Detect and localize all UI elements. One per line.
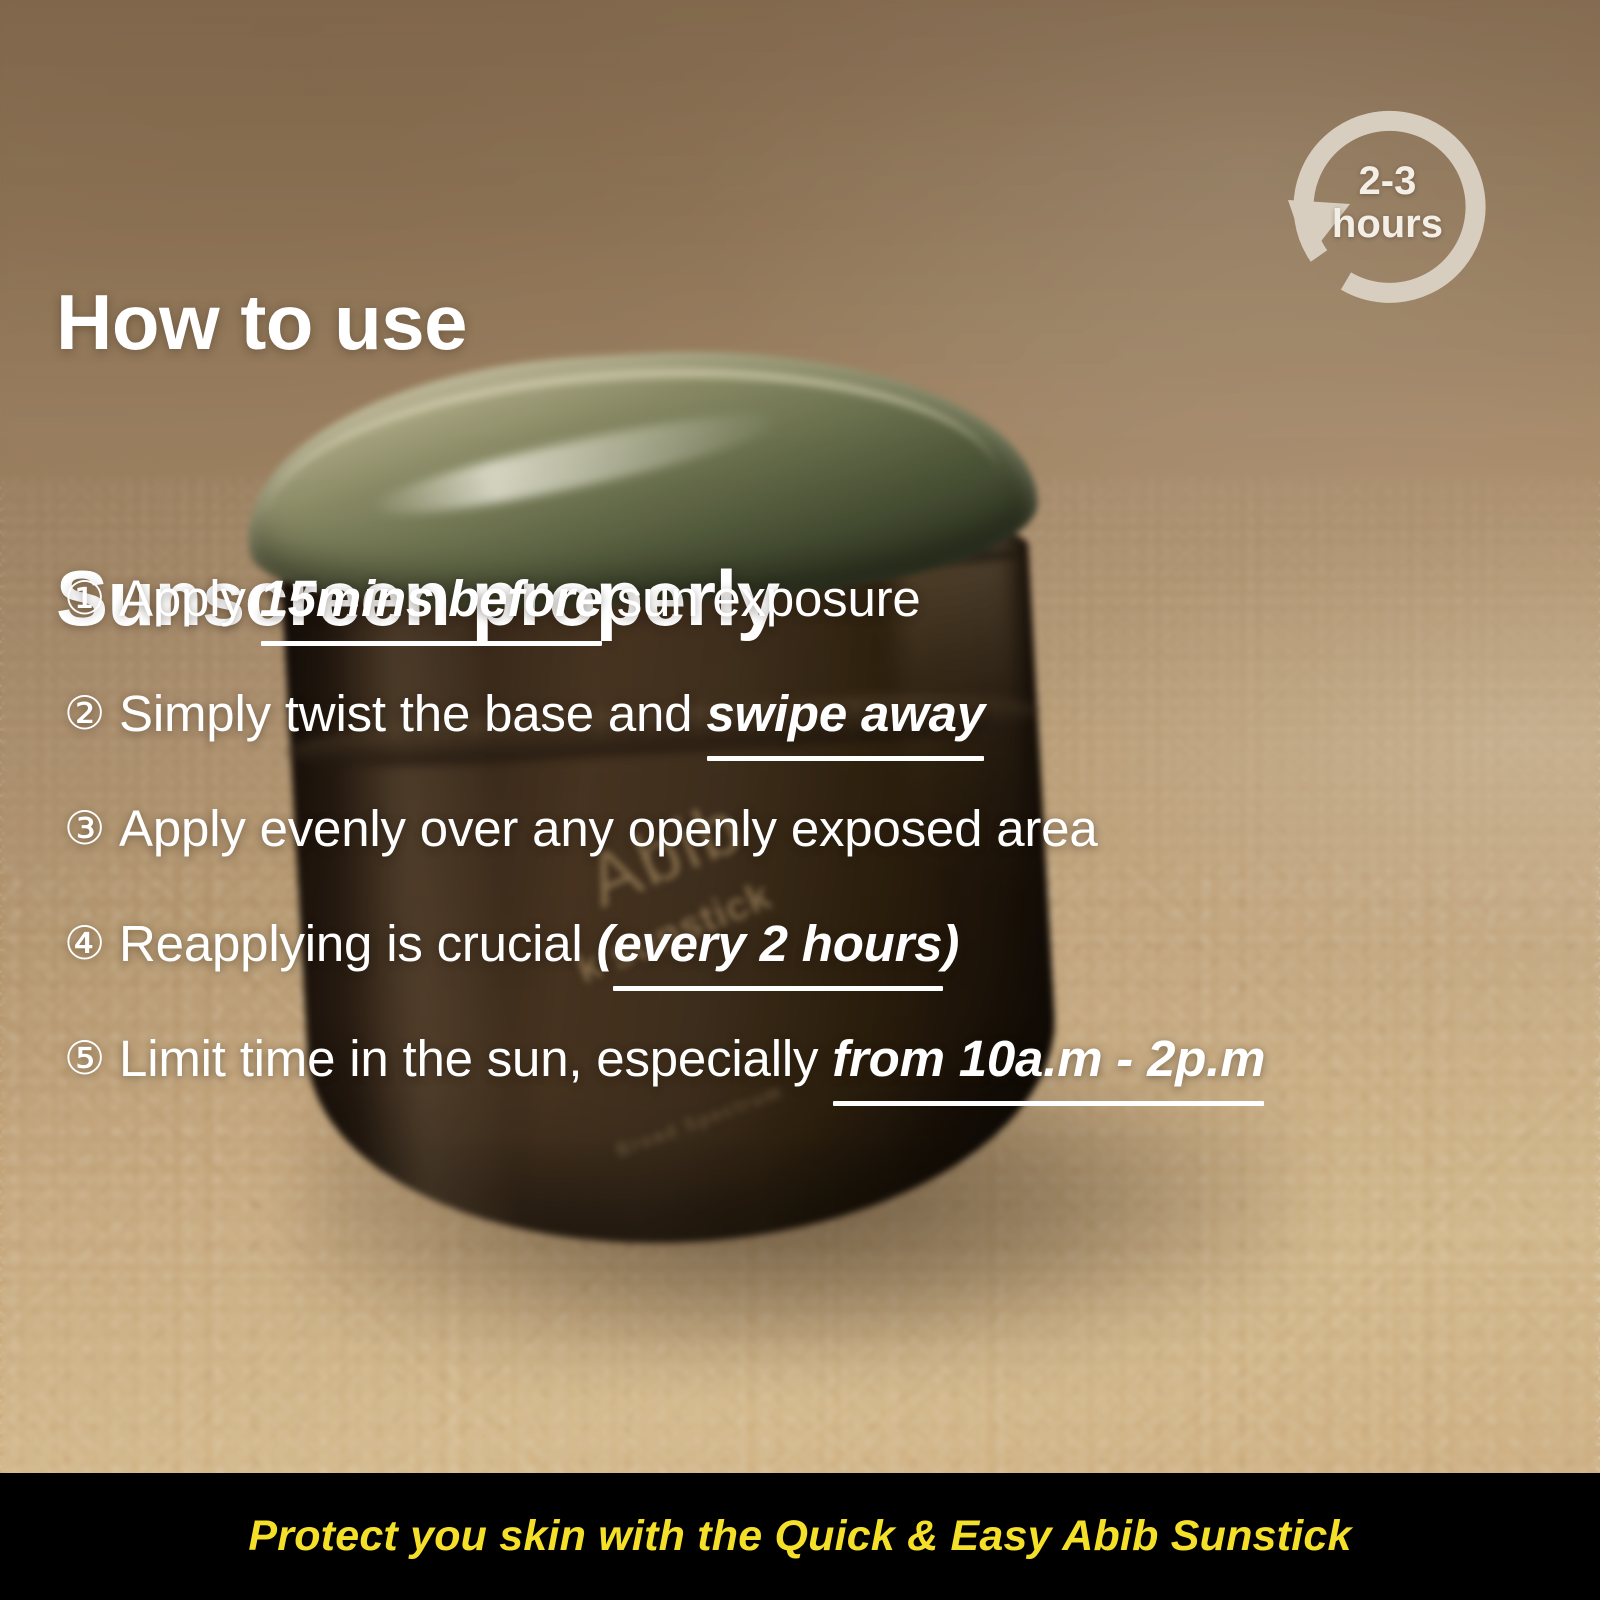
footer-bar: Protect you skin with the Quick & Easy A… (0, 1473, 1600, 1600)
step-text-3: Apply evenly over any openly exposed are… (119, 802, 1097, 855)
step-text-4: Reapplying is crucial (every 2 hours) (119, 917, 959, 970)
step-emphasis-5: from 10a.m - 2p.m (832, 1032, 1265, 1085)
step-text-2-before: Simply twist the base and (119, 685, 706, 742)
step-emphasis-1: 15mins before (260, 572, 603, 625)
page-title-line-1: How to use (56, 276, 780, 368)
step-text-1-after: sun exposure (603, 570, 921, 627)
poster-canvas: Abib k sunstick Broad Spectrum How to us… (0, 0, 1600, 1600)
step-number-1: ① (64, 572, 105, 625)
badge-unit: hours (1332, 203, 1443, 246)
reapply-interval-badge: 2-3 hours (1258, 78, 1508, 328)
step-item-4: ④ Reapplying is crucial (every 2 hours) (64, 917, 1554, 1032)
step-item-1: ① Apply 15mins before sun exposure (64, 572, 1554, 687)
step-text-4-before: Reapplying is crucial (119, 915, 597, 972)
poster-content: How to use Sunscreen properly 2-3 hours … (0, 0, 1600, 1600)
instruction-steps-list: ① Apply 15mins before sun exposure ② Sim… (64, 572, 1554, 1147)
step-emphasis-4: (every 2 hours) (597, 917, 960, 970)
step-item-2: ② Simply twist the base and swipe away (64, 687, 1554, 802)
badge-value: 2-3 (1332, 160, 1443, 203)
step-text-3-before: Apply evenly over any openly exposed are… (119, 800, 1097, 857)
step-text-1-before: Apply (119, 570, 260, 627)
step-text-5: Limit time in the sun, especially from 1… (119, 1032, 1265, 1085)
step-item-3: ③ Apply evenly over any openly exposed a… (64, 802, 1554, 917)
step-item-5: ⑤ Limit time in the sun, especially from… (64, 1032, 1554, 1147)
badge-label: 2-3 hours (1332, 160, 1443, 246)
step-text-1: Apply 15mins before sun exposure (119, 572, 921, 625)
footer-tagline: Protect you skin with the Quick & Easy A… (248, 1512, 1351, 1561)
step-number-3: ③ (64, 802, 105, 855)
step-text-2: Simply twist the base and swipe away (119, 687, 985, 740)
step-number-4: ④ (64, 917, 105, 970)
step-emphasis-2: swipe away (706, 687, 985, 740)
step-text-5-before: Limit time in the sun, especially (119, 1030, 832, 1087)
step-number-5: ⑤ (64, 1032, 105, 1085)
step-number-2: ② (64, 687, 105, 740)
